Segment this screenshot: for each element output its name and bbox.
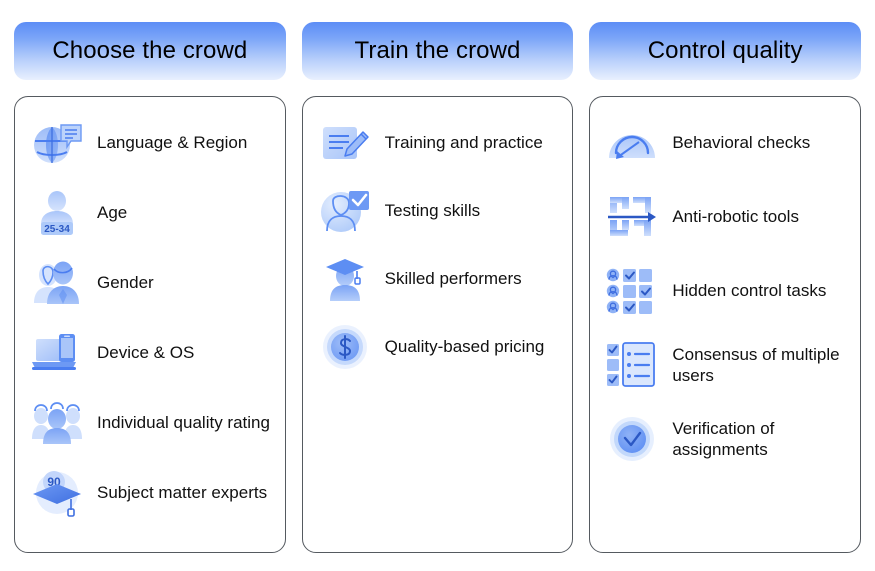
dollar-coin-icon [317,321,373,373]
list-item-label: Individual quality rating [97,412,270,433]
column-header-label: Control quality [648,39,803,63]
column-card-train-the-crowd: Training and practice [302,96,574,553]
list-item-label: Hidden control tasks [672,280,826,301]
list-item[interactable]: Language & Region [29,117,271,169]
speedometer-icon [604,117,660,169]
list-item-label: Gender [97,272,154,293]
column-control-quality: Control quality [589,22,861,553]
list-item[interactable]: Skilled performers [317,253,559,305]
column-train-the-crowd: Train the crowd [302,22,574,553]
list-item[interactable]: Quality-based pricing [317,321,559,373]
list-item[interactable]: Device & OS [29,327,271,379]
column-choose-the-crowd: Choose the crowd [14,22,286,553]
list-item-label: Behavioral checks [672,132,810,153]
list-item-label: Consensus of multiple users [672,344,846,387]
list-item-label: Subject matter experts [97,482,267,503]
list-item-label: Age [97,202,127,223]
people-grid-check-icon [604,265,660,317]
circle-check-icon [604,413,660,465]
list-item-label: Testing skills [385,200,480,221]
person-check-icon [317,185,373,237]
laptop-phone-icon [29,327,85,379]
two-people-gender-icon [29,257,85,309]
column-header-label: Train the crowd [355,39,521,63]
list-item-label: Quality-based pricing [385,336,545,357]
notepad-pencil-icon [317,117,373,169]
column-card-choose-the-crowd: Language & Region 25-34 [14,96,286,553]
graduate-person-icon [317,253,373,305]
checklist-document-icon [604,339,660,391]
list-item-label: Language & Region [97,132,247,153]
list-item[interactable]: 25-34 Age [29,187,271,239]
list-item[interactable]: 90 Subject matter experts [29,467,271,519]
list-item-label: Verification of assignments [672,418,846,461]
list-item-label: Device & OS [97,342,194,363]
column-header-choose-the-crowd: Choose the crowd [14,22,286,80]
list-item[interactable]: Gender [29,257,271,309]
column-header-control-quality: Control quality [589,22,861,80]
list-item-label: Anti-robotic tools [672,206,799,227]
list-item[interactable]: Behavioral checks [604,117,846,169]
age-badge-text: 25-34 [44,224,70,235]
column-header-train-the-crowd: Train the crowd [302,22,574,80]
list-item-label: Skilled performers [385,268,522,289]
globe-chat-icon [29,117,85,169]
person-age-badge-icon: 25-34 [29,187,85,239]
list-item[interactable]: Consensus of multiple users [604,339,846,391]
three-column-board: Choose the crowd [0,0,875,571]
list-item[interactable]: Anti-robotic tools [604,191,846,243]
list-item[interactable]: Hidden control tasks [604,265,846,317]
list-item[interactable]: Individual quality rating [29,397,271,449]
list-item[interactable]: Training and practice [317,117,559,169]
maze-arrow-icon [604,191,660,243]
people-group-icon [29,397,85,449]
list-item[interactable]: Testing skills [317,185,559,237]
graduation-cap-score-icon: 90 [29,467,85,519]
column-card-control-quality: Behavioral checks [589,96,861,553]
column-header-label: Choose the crowd [52,39,247,63]
list-item[interactable]: Verification of assignments [604,413,846,465]
list-item-label: Training and practice [385,132,543,153]
